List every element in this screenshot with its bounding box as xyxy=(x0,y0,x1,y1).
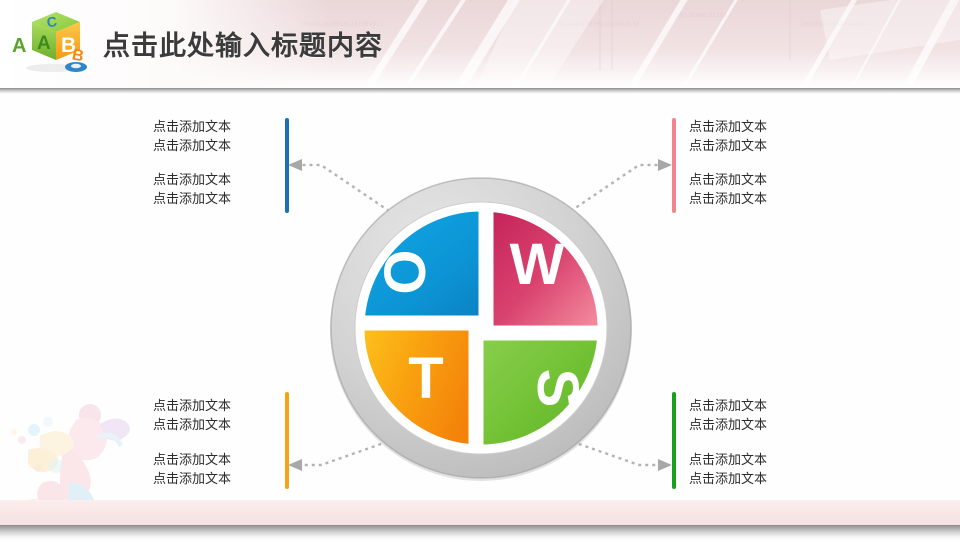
callout-line: 点击添加文本 xyxy=(153,396,231,415)
accent-bar-bottom-left xyxy=(285,392,289,489)
callout-top-left-text-a[interactable]: 点击添加文本 点击添加文本 xyxy=(153,117,231,155)
footer-band xyxy=(0,500,960,525)
callout-bottom-right-text-b[interactable]: 点击添加文本 点击添加文本 xyxy=(689,450,767,488)
footer-metal-strip xyxy=(0,525,960,540)
callout-line: 点击添加文本 xyxy=(689,136,767,155)
header-divider xyxy=(0,88,960,94)
callout-line: 点击添加文本 xyxy=(153,189,231,208)
accent-bar-top-left xyxy=(285,118,289,213)
svg-text:A: A xyxy=(37,33,51,54)
callout-line: 点击添加文本 xyxy=(689,117,767,136)
callout-line: 点击添加文本 xyxy=(689,396,767,415)
swot-wheel-diagram[interactable]: W S T O xyxy=(325,172,637,484)
swot-letter-s: S xyxy=(525,369,590,408)
svg-text:A: A xyxy=(12,35,26,57)
callout-bottom-right-text-a[interactable]: 点击添加文本 点击添加文本 xyxy=(689,396,767,434)
callout-line: 点击添加文本 xyxy=(153,136,231,155)
callout-line: 点击添加文本 xyxy=(153,469,231,488)
callout-line: 点击添加文本 xyxy=(153,170,231,189)
callout-line: 点击添加文本 xyxy=(689,450,767,469)
accent-bar-bottom-right xyxy=(672,392,676,489)
callout-line: 点击添加文本 xyxy=(689,170,767,189)
abc-blocks-icon: A C A B B xyxy=(6,4,92,74)
swot-letter-o: O xyxy=(373,249,438,294)
callout-top-left-text-b[interactable]: 点击添加文本 点击添加文本 xyxy=(153,170,231,208)
callout-bottom-left-text-a[interactable]: 点击添加文本 点击添加文本 xyxy=(153,396,231,434)
callout-line: 点击添加文本 xyxy=(689,415,767,434)
swot-letter-t: T xyxy=(408,346,443,411)
slide: 0110100101100001011010 10010110100101101… xyxy=(0,0,960,540)
accent-bar-top-right xyxy=(672,118,676,213)
svg-text:0110100101101: 0110100101101 xyxy=(680,12,727,19)
page-title: 点击此处输入标题内容 xyxy=(103,24,383,63)
callout-line: 点击添加文本 xyxy=(153,450,231,469)
slide-header: 0110100101100001011010 10010110100101101… xyxy=(0,0,960,88)
callout-bottom-left-text-b[interactable]: 点击添加文本 点击添加文本 xyxy=(153,450,231,488)
swot-letter-w: W xyxy=(510,232,565,297)
callout-line: 点击添加文本 xyxy=(153,117,231,136)
callout-line: 点击添加文本 xyxy=(689,469,767,488)
callout-top-right-text-a[interactable]: 点击添加文本 点击添加文本 xyxy=(689,117,767,155)
callout-line: 点击添加文本 xyxy=(689,189,767,208)
callout-top-right-text-b[interactable]: 点击添加文本 点击添加文本 xyxy=(689,170,767,208)
callout-line: 点击添加文本 xyxy=(153,415,231,434)
